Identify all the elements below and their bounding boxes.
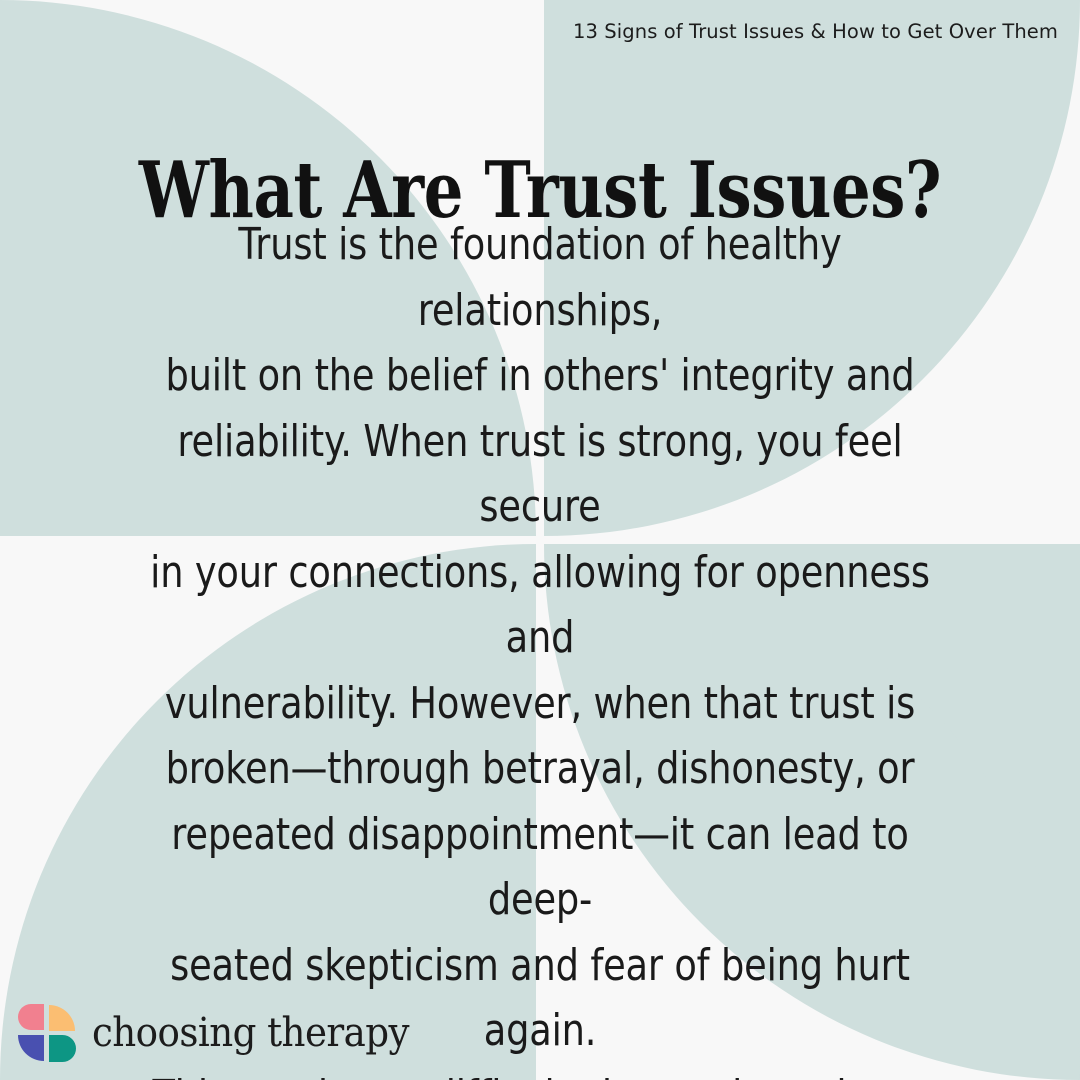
choosing-therapy-petals-icon [18,1004,76,1062]
petal-top-right [49,1005,75,1031]
petal-bottom-left [18,1035,44,1061]
article-kicker: 13 Signs of Trust Issues & How to Get Ov… [573,20,1058,43]
social-card-canvas: 13 Signs of Trust Issues & How to Get Ov… [0,0,1080,1080]
petal-bottom-right [49,1035,76,1062]
petal-top-left [18,1004,44,1030]
brand-wordmark: choosing therapy [92,1013,409,1053]
body-paragraph: Trust is the foundation of healthy relat… [134,213,945,1080]
brand-logo: choosing therapy [18,1004,433,1062]
